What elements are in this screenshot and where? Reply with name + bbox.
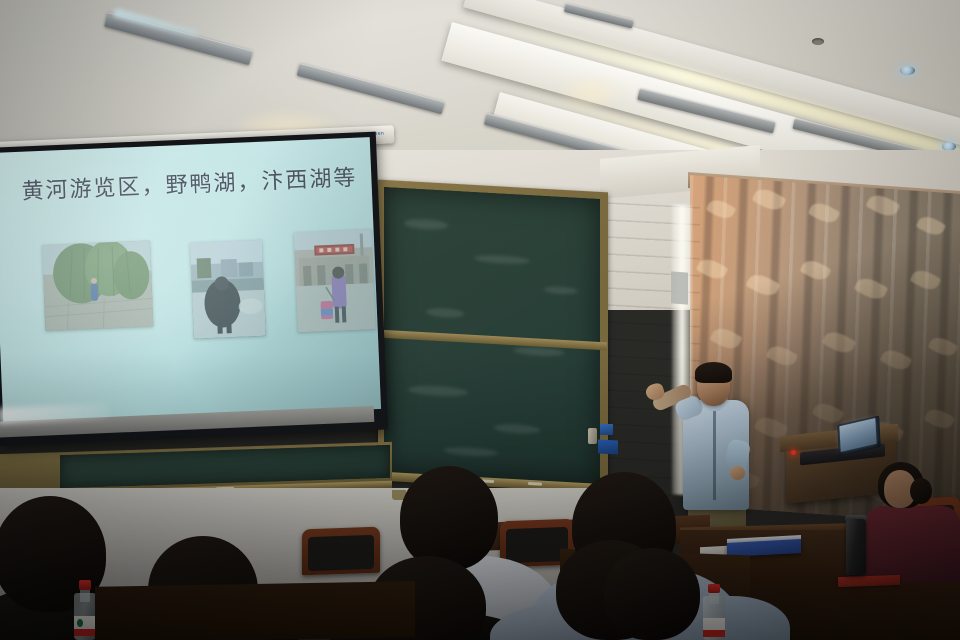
projection-screen[interactable]: 黄河游览区，野鸭湖，汴西湖等 (0, 137, 381, 425)
speaker-right-hand (730, 466, 745, 480)
seated-woman-torso (862, 506, 960, 582)
chair-1 (302, 527, 380, 576)
water-bottle-right (703, 584, 725, 640)
slide-photo-2 (190, 240, 266, 339)
downlight-1 (900, 66, 915, 75)
slide-photo-group (42, 224, 357, 357)
water-bottle-left (74, 580, 96, 640)
blue-supply-box (598, 439, 618, 454)
seated-woman-hair-bun (910, 478, 932, 504)
slide-photo-3 (294, 229, 376, 332)
jar-on-ledge (588, 428, 597, 444)
window-frame-block (671, 271, 688, 304)
thermos-flask (846, 519, 866, 575)
ceiling-vent (812, 38, 824, 45)
blue-supply-box-small (600, 424, 613, 435)
slide-photo-1 (42, 240, 154, 330)
laser-pointer-indicator (791, 450, 796, 455)
speaker-hair (695, 362, 732, 383)
speaker-shirt-placket (713, 404, 716, 500)
desk-left-row (95, 581, 415, 640)
ceiling-light-wash-2 (556, 76, 626, 110)
slide-title-text: 黄河游览区，野鸭湖，汴西湖等 (21, 160, 358, 206)
lecture-hall-photo: Screen 黄河游览区，野鸭湖，汴西湖等 (0, 0, 960, 640)
